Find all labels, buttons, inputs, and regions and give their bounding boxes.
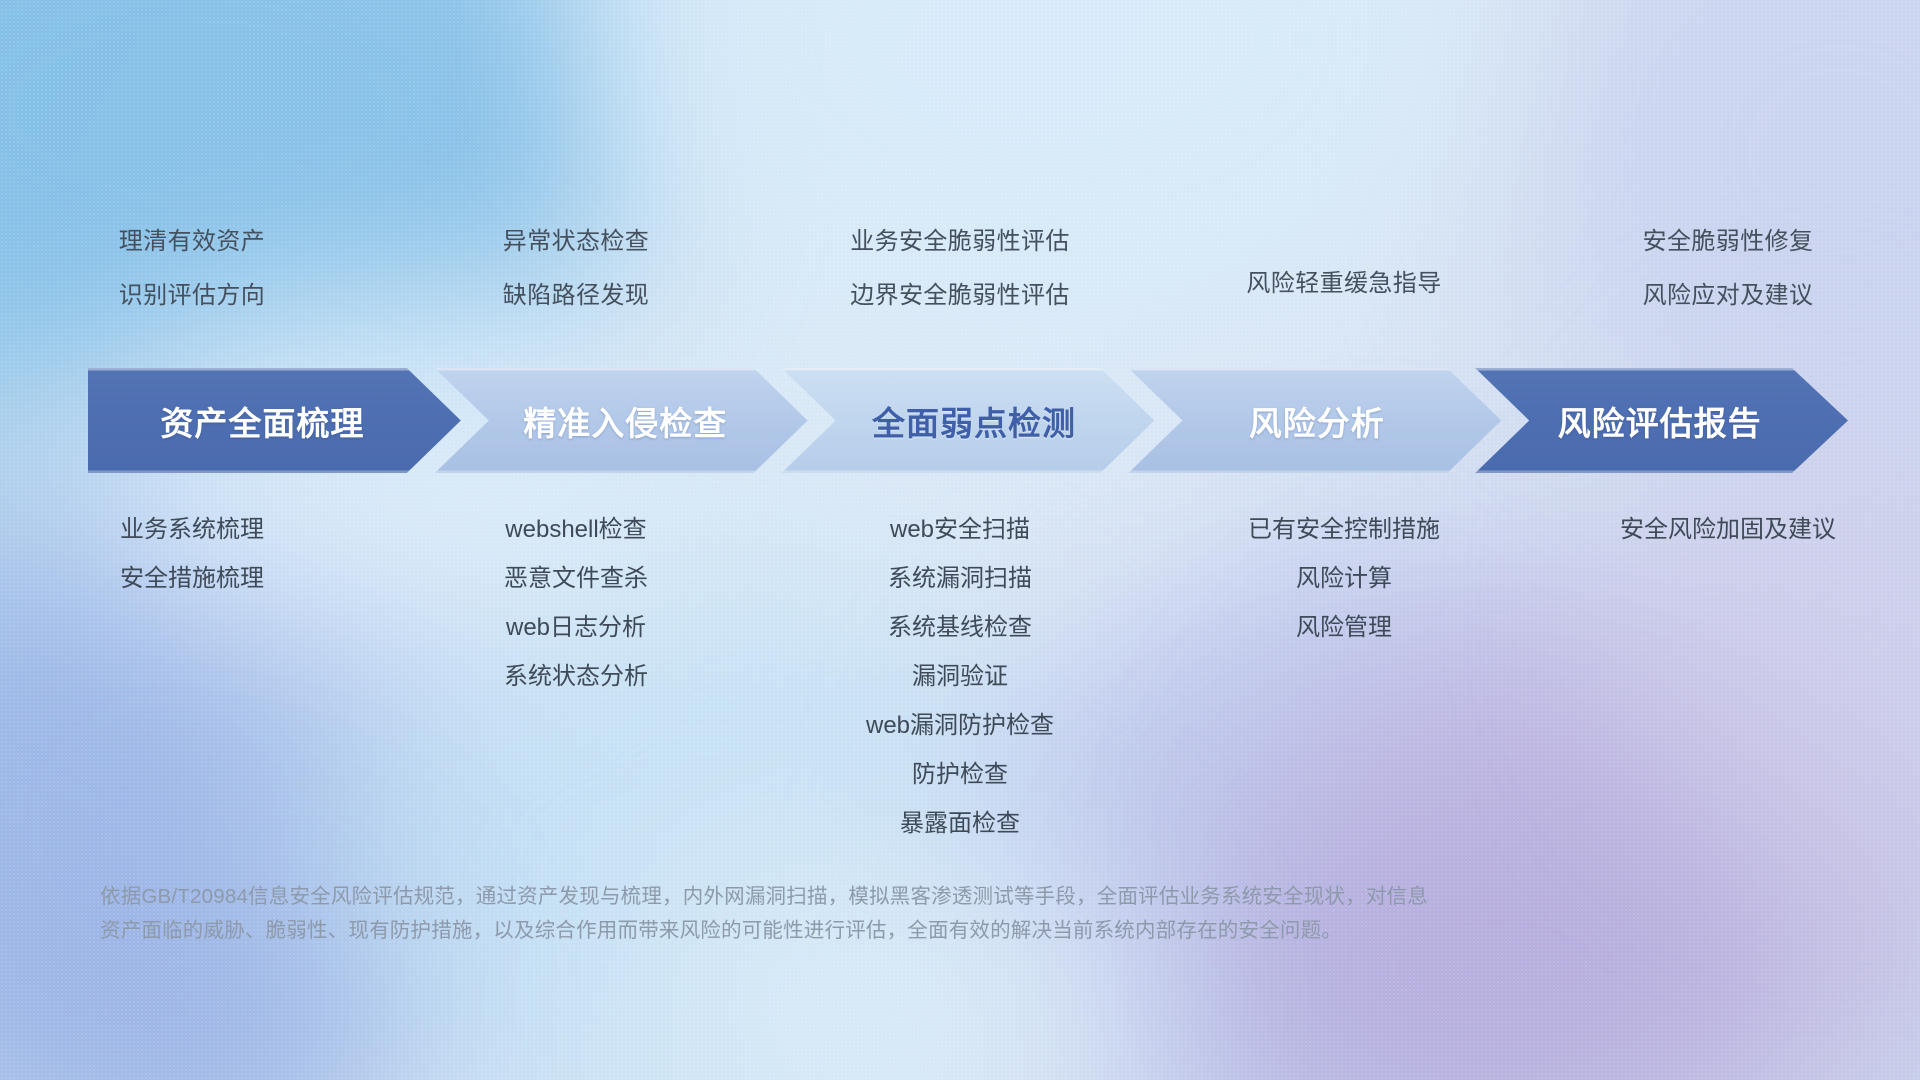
bottom-label: 已有安全控制措施 <box>1248 518 1440 542</box>
top-labels-asset-inventory: 理清有效资产 识别评估方向 <box>0 230 384 308</box>
bottom-labels-risk-report: 安全风险加固及建议 <box>1536 518 1920 542</box>
stage-title: 风险评估报告 <box>1558 397 1762 445</box>
top-label-row: 理清有效资产 识别评估方向 异常状态检查 缺陷路径发现 业务安全脆弱性评估 边界… <box>0 230 1920 308</box>
bottom-labels-asset-inventory: 业务系统梳理 安全措施梳理 <box>0 518 384 591</box>
bottom-label: 业务系统梳理 <box>120 518 264 542</box>
bottom-label: 系统状态分析 <box>504 665 648 689</box>
slide-canvas: 理清有效资产 识别评估方向 异常状态检查 缺陷路径发现 业务安全脆弱性评估 边界… <box>0 0 1920 1080</box>
top-label: 异常状态检查 <box>503 230 649 254</box>
bottom-label: web日志分析 <box>506 616 646 640</box>
footer-line: 资产面临的威胁、脆弱性、现有防护措施，以及综合作用而带来风险的可能性进行评估，全… <box>100 914 1610 948</box>
bottom-label: 系统基线检查 <box>888 616 1032 640</box>
bottom-label: 漏洞验证 <box>912 665 1008 689</box>
top-label: 边界安全脆弱性评估 <box>850 284 1070 308</box>
stage-chevron-asset-inventory[interactable]: 资产全面梳理 <box>88 368 461 473</box>
process-chevron-band: 资产全面梳理 精准入侵检查 全面弱点检测 风险分析 风险评估报告 <box>88 368 1848 473</box>
footer-line: 依据GB/T20984信息安全风险评估规范，通过资产发现与梳理，内外网漏洞扫描，… <box>100 880 1610 914</box>
stage-chevron-weakness-detection[interactable]: 全面弱点检测 <box>782 368 1155 473</box>
top-label: 识别评估方向 <box>119 284 265 308</box>
top-label: 风险轻重缓急指导 <box>1246 272 1441 296</box>
top-label: 安全脆弱性修复 <box>1643 230 1814 254</box>
bottom-labels-weakness-detection: web安全扫描 系统漏洞扫描 系统基线检查 漏洞验证 web漏洞防护检查 防护检… <box>768 518 1152 836</box>
stage-title: 精准入侵检查 <box>523 397 727 445</box>
bottom-labels-intrusion-check: webshell检查 恶意文件查杀 web日志分析 系统状态分析 <box>384 518 768 689</box>
bottom-label: 安全措施梳理 <box>120 567 264 591</box>
bottom-label: 风险管理 <box>1296 616 1392 640</box>
top-labels-weakness-detection: 业务安全脆弱性评估 边界安全脆弱性评估 <box>768 230 1152 308</box>
bottom-label: 恶意文件查杀 <box>504 567 648 591</box>
top-label: 风险应对及建议 <box>1643 284 1814 308</box>
top-labels-risk-analysis: 风险轻重缓急指导 <box>1152 230 1536 308</box>
stage-title: 资产全面梳理 <box>160 397 364 445</box>
stage-title: 全面弱点检测 <box>872 397 1076 445</box>
top-labels-intrusion-check: 异常状态检查 缺陷路径发现 <box>384 230 768 308</box>
stage-chevron-risk-analysis[interactable]: 风险分析 <box>1128 368 1501 473</box>
top-label: 缺陷路径发现 <box>503 284 649 308</box>
stage-chevron-risk-report[interactable]: 风险评估报告 <box>1475 368 1848 473</box>
stage-chevron-intrusion-check[interactable]: 精准入侵检查 <box>435 368 808 473</box>
bottom-label: web安全扫描 <box>890 518 1030 542</box>
bottom-label: webshell检查 <box>505 518 646 542</box>
stage-title: 风险分析 <box>1249 397 1385 445</box>
footer-description: 依据GB/T20984信息安全风险评估规范，通过资产发现与梳理，内外网漏洞扫描，… <box>100 880 1610 948</box>
bottom-label: web漏洞防护检查 <box>866 714 1054 738</box>
top-labels-risk-report: 安全脆弱性修复 风险应对及建议 <box>1536 230 1920 308</box>
top-label: 业务安全脆弱性评估 <box>850 230 1070 254</box>
bottom-label: 系统漏洞扫描 <box>888 567 1032 591</box>
bottom-labels-risk-analysis: 已有安全控制措施 风险计算 风险管理 <box>1152 518 1536 640</box>
bottom-label: 安全风险加固及建议 <box>1620 518 1836 542</box>
bottom-label: 防护检查 <box>912 763 1008 787</box>
bottom-label-row: 业务系统梳理 安全措施梳理 webshell检查 恶意文件查杀 web日志分析 … <box>0 518 1920 836</box>
bottom-label: 风险计算 <box>1296 567 1392 591</box>
top-label: 理清有效资产 <box>119 230 265 254</box>
bottom-label: 暴露面检查 <box>900 812 1020 836</box>
